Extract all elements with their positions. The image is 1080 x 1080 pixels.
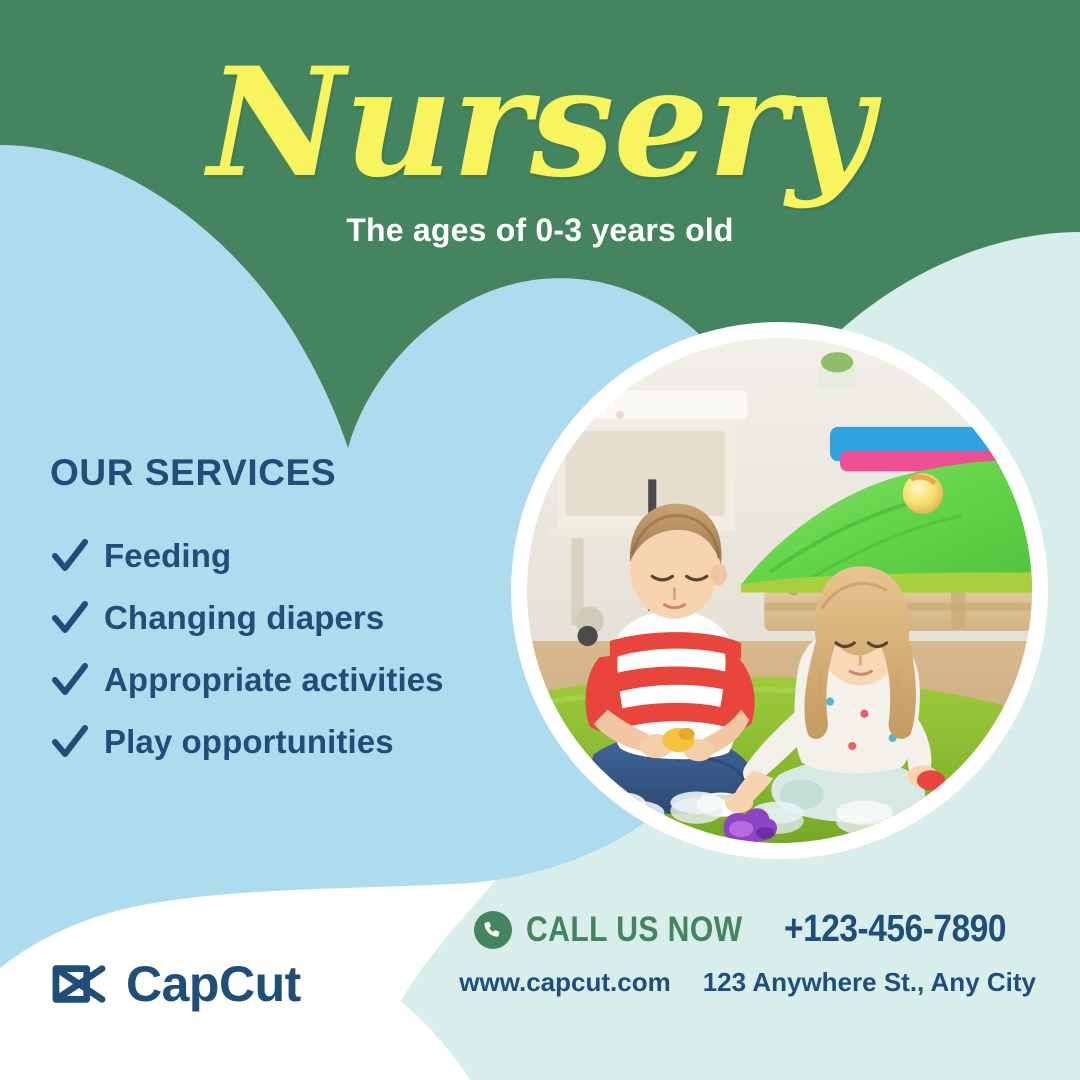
call-row: CALL US NOW +123-456-7890	[459, 908, 1036, 951]
services-list: Feeding Changing diapers Appropriate act…	[50, 534, 530, 764]
website-url[interactable]: www.capcut.com	[459, 967, 670, 998]
poster-canvas: Nursery The ages of 0-3 years old	[0, 0, 1080, 1080]
list-item: Play opportunities	[50, 720, 530, 764]
phone-icon	[474, 911, 512, 949]
street-address: 123 Anywhere St., Any City	[703, 967, 1036, 998]
service-label: Appropriate activities	[104, 661, 444, 699]
check-icon	[50, 660, 90, 700]
capcut-logo-icon	[50, 960, 108, 1008]
service-label: Feeding	[104, 537, 231, 575]
capcut-logo: CapCut	[50, 955, 301, 1013]
list-item: Feeding	[50, 534, 530, 578]
services-heading: OUR SERVICES	[50, 452, 530, 494]
contact-block: CALL US NOW +123-456-7890 www.capcut.com…	[459, 908, 1036, 998]
check-icon	[50, 536, 90, 576]
photo-frame	[511, 322, 1048, 859]
web-address-row: www.capcut.com 123 Anywhere St., Any Cit…	[459, 967, 1036, 998]
services-section: OUR SERVICES Feeding Changing diapers Ap…	[50, 452, 530, 782]
capcut-wordmark: CapCut	[126, 955, 301, 1013]
phone-number[interactable]: +123-456-7890	[784, 908, 1006, 951]
call-us-label: CALL US NOW	[526, 910, 743, 950]
service-label: Changing diapers	[104, 599, 384, 637]
list-item: Changing diapers	[50, 596, 530, 640]
list-item: Appropriate activities	[50, 658, 530, 702]
phone-glyph-icon	[482, 919, 504, 941]
check-icon	[50, 598, 90, 638]
check-icon	[50, 722, 90, 762]
service-label: Play opportunities	[104, 723, 394, 761]
page-subtitle: The ages of 0-3 years old	[0, 212, 1080, 249]
nursery-photo	[527, 338, 1032, 843]
